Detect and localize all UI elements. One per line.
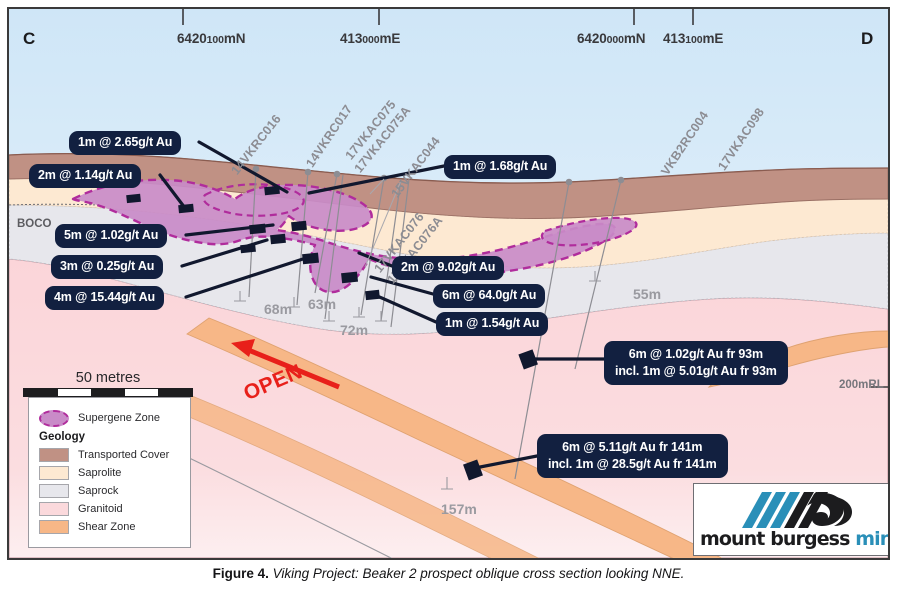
legend-label-transported-cover: Transported Cover bbox=[78, 449, 169, 461]
legend-label-shear-zone: Shear Zone bbox=[78, 521, 135, 533]
logo-word-blue: mining bbox=[855, 528, 889, 550]
legend-item-shear-zone: Shear Zone bbox=[39, 519, 180, 534]
depth-label-68m: 68m bbox=[264, 301, 292, 317]
intercept-callout-6[interactable]: 1m @ 1.68g/t Au bbox=[444, 155, 556, 179]
intercept-callout-3[interactable]: 5m @ 1.02g/t Au bbox=[55, 224, 167, 248]
section-start-label: C bbox=[23, 29, 35, 49]
scale-bar: 50 metres bbox=[23, 370, 193, 397]
boco-label: BOCO bbox=[17, 218, 52, 230]
depth-label-72m: 72m bbox=[340, 322, 368, 338]
axis-label-413000mE: 413000mE bbox=[340, 31, 400, 46]
depth-label-55m: 55m bbox=[633, 286, 661, 302]
depth-label-63m: 63m bbox=[308, 296, 336, 312]
figure-caption: Figure 4. Viking Project: Beaker 2 prosp… bbox=[0, 566, 897, 581]
legend-heading-geology: Geology bbox=[39, 431, 180, 443]
swatch-shear-zone bbox=[39, 520, 69, 534]
legend-label-granitoid: Granitoid bbox=[78, 503, 123, 515]
legend-label-supergene: Supergene Zone bbox=[78, 412, 160, 424]
scale-bar-segments bbox=[23, 388, 193, 397]
collar-VKB2RC004 bbox=[566, 179, 573, 186]
intercept-callout-1[interactable]: 1m @ 2.65g/t Au bbox=[69, 131, 181, 155]
axis-label-6420100mN: 6420100mN bbox=[177, 31, 245, 46]
section-end-label: D bbox=[861, 29, 873, 49]
collar-17VKAC075 bbox=[334, 171, 341, 178]
scale-segment-1 bbox=[24, 389, 58, 396]
intercept-callout-9[interactable]: 1m @ 1.54g/t Au bbox=[436, 312, 548, 336]
legend-item-transported-cover: Transported Cover bbox=[39, 447, 180, 462]
legend-item-saprolite: Saprolite bbox=[39, 465, 180, 480]
map-legend: Supergene Zone Geology Transported Cover… bbox=[28, 397, 191, 548]
axis-label-6420000mN: 6420000mN bbox=[577, 31, 645, 46]
intercept-callout-4[interactable]: 3m @ 0.25g/t Au bbox=[51, 255, 163, 279]
legend-label-saprock: Saprock bbox=[78, 485, 118, 497]
legend-item-granitoid: Granitoid bbox=[39, 501, 180, 516]
caption-text: Viking Project: Beaker 2 prospect obliqu… bbox=[273, 566, 685, 581]
scale-segment-4 bbox=[125, 389, 159, 396]
axis-label-413100mE: 413100mE bbox=[663, 31, 723, 46]
swatch-transported-cover bbox=[39, 448, 69, 462]
mount-burgess-logo-mark bbox=[728, 488, 856, 530]
legend-item-supergene: Supergene Zone bbox=[39, 407, 180, 429]
scale-bar-label: 50 metres bbox=[23, 370, 193, 386]
scale-segment-3 bbox=[91, 389, 125, 396]
scale-segment-2 bbox=[58, 389, 92, 396]
cross-section-figure: C D 6420100mN 413000mE 6420000mN 413100m… bbox=[7, 7, 890, 560]
legend-label-saprolite: Saprolite bbox=[78, 467, 121, 479]
intercept-callout-11[interactable]: 6m @ 5.11g/t Au fr 141m incl. 1m @ 28.5g… bbox=[537, 434, 728, 478]
company-logo: mount burgess mining bbox=[693, 483, 889, 556]
depth-label-157m: 157m bbox=[441, 501, 477, 517]
rl-label-200mRL: 200mRL bbox=[839, 379, 884, 391]
intercept-callout-5[interactable]: 4m @ 15.44g/t Au bbox=[45, 286, 164, 310]
figure-page: C D 6420100mN 413000mE 6420000mN 413100m… bbox=[0, 0, 897, 605]
supergene-swatch-icon bbox=[39, 410, 69, 427]
intercept-callout-8[interactable]: 6m @ 64.0g/t Au bbox=[433, 284, 545, 308]
caption-prefix: Figure 4. bbox=[213, 566, 269, 581]
intercept-callout-2[interactable]: 2m @ 1.14g/t Au bbox=[29, 164, 141, 188]
swatch-granitoid bbox=[39, 502, 69, 516]
company-logo-wordmark: mount burgess mining bbox=[700, 528, 884, 550]
intercept-callout-7[interactable]: 2m @ 9.02g/t Au bbox=[392, 256, 504, 280]
swatch-saprock bbox=[39, 484, 69, 498]
swatch-saprolite bbox=[39, 466, 69, 480]
logo-word-dark: mount burgess bbox=[700, 528, 855, 550]
scale-segment-5 bbox=[158, 389, 192, 396]
intercept-callout-10[interactable]: 6m @ 1.02g/t Au fr 93m incl. 1m @ 5.01g/… bbox=[604, 341, 788, 385]
collar-14VKRC017 bbox=[305, 169, 312, 176]
legend-item-saprock: Saprock bbox=[39, 483, 180, 498]
collar-17VKAC098 bbox=[618, 177, 625, 184]
